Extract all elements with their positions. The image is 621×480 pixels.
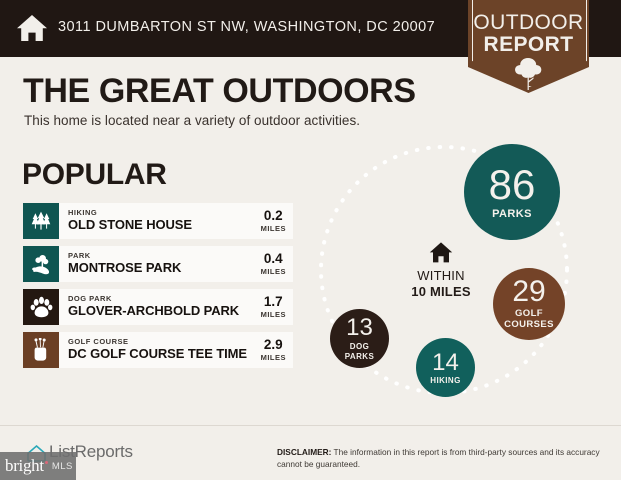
list-item-distance-group: 1.7 MILES — [261, 289, 293, 325]
list-item-text: GOLF COURSE DC GOLF COURSE TEE TIME — [59, 332, 261, 368]
list-item-distance: 2.9 — [264, 338, 283, 352]
list-item-text: PARK MONTROSE PARK — [59, 246, 261, 282]
list-item[interactable]: PARK MONTROSE PARK 0.4 MILES — [23, 246, 293, 282]
list-item-icon-box — [23, 289, 59, 325]
diagram-center-line1: WITHIN — [396, 268, 486, 283]
list-item-unit: MILES — [261, 353, 286, 362]
list-item[interactable]: DOG PARK GLOVER-ARCHBOLD PARK 1.7 MILES — [23, 289, 293, 325]
list-item[interactable]: GOLF COURSE DC GOLF COURSE TEE TIME 2.9 … — [23, 332, 293, 368]
list-item-text: HIKING OLD STONE HOUSE — [59, 203, 261, 239]
stat-circle-hiking[interactable]: 14 HIKING — [416, 338, 475, 397]
page-subtitle: This home is located near a variety of o… — [24, 113, 360, 128]
stat-circle-parks[interactable]: 86 PARKS — [464, 144, 560, 240]
diagram-center-line2: 10 MILES — [396, 284, 486, 299]
stat-value-hiking: 14 — [432, 351, 459, 375]
pine-trees-icon — [29, 211, 53, 231]
paw-print-icon — [30, 296, 53, 318]
list-item-unit: MILES — [261, 310, 286, 319]
list-item-distance: 0.2 — [264, 209, 283, 223]
list-item-name: MONTROSE PARK — [68, 261, 261, 276]
stat-value-parks: 86 — [489, 164, 536, 206]
list-item-icon-box — [23, 332, 59, 368]
list-item-name: DC GOLF COURSE TEE TIME — [68, 347, 261, 362]
stat-circle-golf-courses[interactable]: 29 GOLF COURSES — [493, 268, 565, 340]
list-item-name: OLD STONE HOUSE — [68, 218, 261, 233]
stat-label-dog-line1: DOG — [350, 342, 369, 351]
list-item-icon-box — [23, 203, 59, 239]
watermark-dot-icon — [45, 461, 48, 464]
list-item-distance-group: 0.4 MILES — [261, 246, 293, 282]
list-item-icon-box — [23, 246, 59, 282]
list-item-unit: MILES — [261, 267, 286, 276]
stat-label-hiking: HIKING — [430, 377, 460, 385]
disclaimer: DISCLAIMER: The information in this repo… — [277, 446, 607, 471]
list-item-unit: MILES — [261, 224, 286, 233]
stat-circle-dog-parks[interactable]: 13 DOG PARKS — [330, 309, 389, 368]
footer-divider — [0, 425, 621, 426]
watermark-suffix: MLS — [52, 461, 73, 472]
popular-heading: POPULAR — [22, 158, 167, 192]
stat-label-parks: PARKS — [492, 209, 532, 220]
badge-title-line1: OUTDOOR — [468, 11, 589, 35]
stat-value-golf-courses: 29 — [512, 277, 545, 307]
stat-label-golf-line2: COURSES — [504, 320, 554, 331]
popular-list: HIKING OLD STONE HOUSE 0.2 MILES — [23, 203, 293, 375]
golf-bag-icon — [31, 338, 51, 362]
list-item[interactable]: HIKING OLD STONE HOUSE 0.2 MILES — [23, 203, 293, 239]
list-item-distance: 1.7 — [264, 295, 283, 309]
home-icon — [429, 241, 453, 264]
list-item-distance: 0.4 — [264, 252, 283, 266]
home-icon — [16, 13, 48, 43]
list-item-name: GLOVER-ARCHBOLD PARK — [68, 304, 261, 319]
list-item-text: DOG PARK GLOVER-ARCHBOLD PARK — [59, 289, 261, 325]
tree-icon — [503, 56, 553, 90]
stat-value-dog-parks: 13 — [346, 316, 373, 340]
list-item-distance-group: 0.2 MILES — [261, 203, 293, 239]
amenities-diagram: 86 PARKS 29 GOLF COURSES 13 DOG PARKS 14… — [318, 140, 609, 410]
bright-mls-watermark: bright MLS — [0, 452, 76, 480]
list-item-distance-group: 2.9 MILES — [261, 332, 293, 368]
watermark-brand: bright — [5, 456, 44, 476]
badge-title-line2: REPORT — [468, 33, 589, 57]
stat-label-dog-line2: PARKS — [345, 352, 374, 361]
disclaimer-label: DISCLAIMER: — [277, 447, 331, 457]
page-title: THE GREAT OUTDOORS — [23, 72, 416, 111]
park-tree-bench-icon — [29, 254, 53, 275]
property-address: 3011 DUMBARTON ST NW, WASHINGTON, DC 200… — [58, 19, 435, 35]
outdoor-report-page: 3011 DUMBARTON ST NW, WASHINGTON, DC 200… — [0, 0, 621, 480]
